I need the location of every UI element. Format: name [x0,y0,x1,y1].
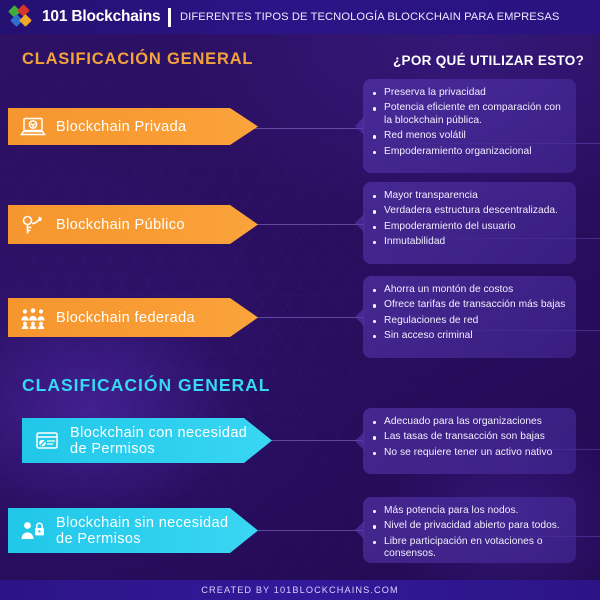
list-item: Potencia eficiente en comparación con la… [369,102,568,128]
benefits-box-3: Ahorra un montón de costos Ofrece tarifa… [363,276,576,358]
id-badge-icon [32,426,62,456]
key-icon [18,210,48,240]
list-item: Nivel de privacidad abierto para todos. [369,520,568,533]
list-item: Ahorra un montón de costos [369,284,568,297]
list-item: Empoderamiento del usuario [369,221,568,234]
connector-line-4 [258,440,363,441]
people-group-icon [18,303,48,333]
list-item: Más potencia para los nodos. [369,505,568,518]
list-item: Sin acceso criminal [369,330,568,343]
heading-clasificacion-general-1: CLASIFICACIÓN GENERAL [22,50,253,69]
benefits-box-4: Adecuado para las organizaciones Las tas… [363,408,576,474]
banner-label: Blockchain Privada [56,119,187,135]
benefits-list-3: Ahorra un montón de costos Ofrece tarifa… [369,284,568,343]
header-bar: 101 Blockchains DIFERENTES TIPOS DE TECN… [0,0,600,34]
infographic-canvas: 101 Blockchains DIFERENTES TIPOS DE TECN… [0,0,600,600]
benefits-box-5: Más potencia para los nodos. Nivel de pr… [363,497,576,563]
list-item: Verdadera estructura descentralizada. [369,205,568,218]
list-item: Libre participación en votaciones o cons… [369,536,568,562]
footer-credit: CREATED BY 101BLOCKCHAINS.COM [201,585,399,595]
connector-line-3 [243,317,363,318]
banner-label: Blockchain sin necesidad de Permisos [56,515,228,547]
laptop-icon [18,112,48,142]
benefits-box-1: Preserva la privacidad Potencia eficient… [363,79,576,173]
banner-blockchain-federada[interactable]: Blockchain federada [8,298,258,337]
connector-line-5 [258,530,363,531]
list-item: Las tasas de transacción son bajas [369,431,568,444]
list-item: Inmutabilidad [369,236,568,249]
list-item: No se requiere tener un activo nativo [369,447,568,460]
list-item: Preserva la privacidad [369,87,568,100]
banner-blockchain-publico[interactable]: Blockchain Público [8,205,258,244]
heading-por-que-utilizar: ¿POR QUÉ UTILIZAR ESTO? [393,53,584,68]
list-item: Ofrece tarifas de transacción más bajas [369,299,568,312]
list-item: Mayor transparencia [369,190,568,203]
footer-bar: CREATED BY 101BLOCKCHAINS.COM [0,580,600,600]
heading-clasificacion-general-2: CLASIFICACIÓN GENERAL [22,375,271,396]
diamond-cluster-logo-icon [10,6,36,28]
list-item: Red menos volátil [369,130,568,143]
connector-line-1 [243,128,363,129]
banner-label: Blockchain con necesidad de Permisos [70,425,247,457]
benefits-list-1: Preserva la privacidad Potencia eficient… [369,87,568,158]
list-item: Regulaciones de red [369,315,568,328]
brand-name: 101 Blockchains [42,8,160,26]
list-item: Adecuado para las organizaciones [369,416,568,429]
person-lock-icon [18,516,48,546]
benefits-list-4: Adecuado para las organizaciones Las tas… [369,416,568,459]
benefits-list-2: Mayor transparencia Verdadera estructura… [369,190,568,249]
header-title: DIFERENTES TIPOS DE TECNOLOGÍA BLOCKCHAI… [180,11,559,23]
connector-line-2 [243,224,363,225]
benefits-box-2: Mayor transparencia Verdadera estructura… [363,182,576,264]
banner-label: Blockchain Público [56,217,185,233]
banner-blockchain-privada[interactable]: Blockchain Privada [8,108,258,145]
banner-blockchain-sin-permisos[interactable]: Blockchain sin necesidad de Permisos [8,508,258,553]
banner-blockchain-con-permisos[interactable]: Blockchain con necesidad de Permisos [22,418,272,463]
list-item: Empoderamiento organizacional [369,146,568,159]
benefits-list-5: Más potencia para los nodos. Nivel de pr… [369,505,568,561]
header-divider [168,8,171,27]
banner-label: Blockchain federada [56,310,195,326]
